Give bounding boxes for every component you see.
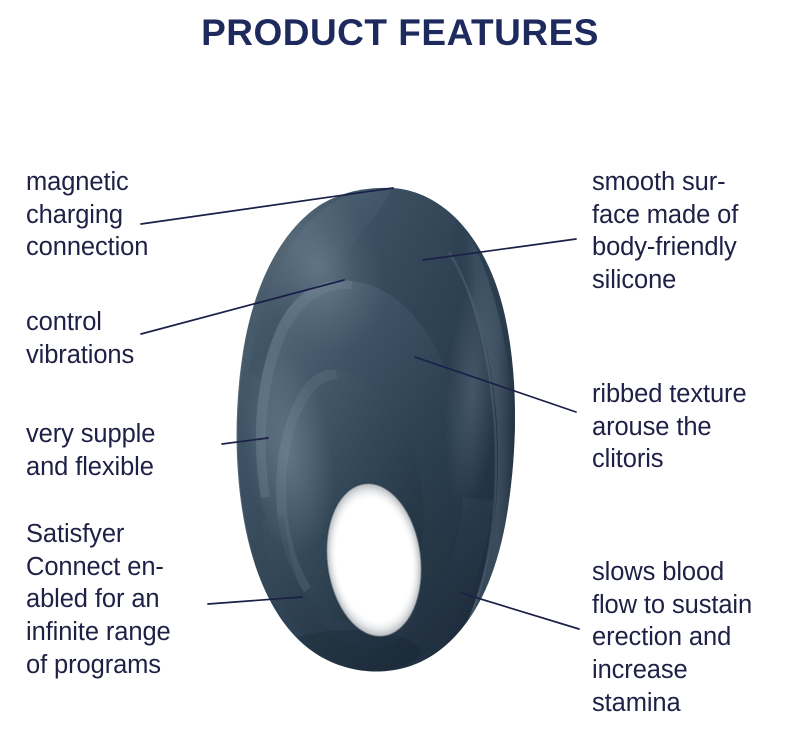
callout-line: erection and: [592, 621, 797, 654]
callout-line: increase: [592, 654, 797, 687]
callout-line: and flexible: [26, 451, 236, 484]
product-features-diagram: PRODUCT FEATURES: [0, 0, 800, 752]
callout-line: infinite range: [26, 616, 241, 649]
page-title: PRODUCT FEATURES: [0, 14, 800, 53]
ring-opening: [318, 478, 430, 642]
leader-line-smooth-surface: [423, 239, 576, 260]
callout-line: silicone: [592, 264, 792, 297]
callout-control-vibrations: control vibrations: [26, 306, 226, 371]
leader-line-slows-blood-flow: [461, 593, 579, 629]
callout-line: ribbed texture: [592, 378, 797, 411]
callout-line: stamina: [592, 687, 797, 720]
callout-line: very supple: [26, 418, 236, 451]
callout-smooth-surface: smooth sur- face made of body-friendly s…: [592, 166, 792, 297]
callout-line: Connect en-: [26, 551, 241, 584]
callout-line: abled for an: [26, 583, 241, 616]
product-body: [228, 165, 517, 674]
callout-line: face made of: [592, 199, 792, 232]
callout-line: of programs: [26, 649, 241, 682]
callout-line: flow to sustain: [592, 589, 797, 622]
callout-slows-blood-flow: slows blood flow to sustain erection and…: [592, 556, 797, 719]
leader-line-ribbed-texture: [415, 357, 576, 412]
callout-line: control: [26, 306, 226, 339]
callout-line: connection: [26, 231, 236, 264]
callout-magnetic-charging-connection: magnetic charging connection: [26, 166, 236, 264]
callout-line: smooth sur-: [592, 166, 792, 199]
callout-very-supple-and-flexible: very supple and flexible: [26, 418, 236, 483]
callout-line: arouse the: [592, 411, 797, 444]
callout-line: vibrations: [26, 339, 226, 372]
callout-ribbed-texture: ribbed texture arouse the clitoris: [592, 378, 797, 476]
callout-line: slows blood: [592, 556, 797, 589]
callout-line: Satisfyer: [26, 518, 241, 551]
callout-line: body-friendly: [592, 231, 792, 264]
callout-line: clitoris: [592, 443, 797, 476]
callout-satisfyer-connect: Satisfyer Connect en- abled for an infin…: [26, 518, 241, 681]
callout-line: charging: [26, 199, 236, 232]
callout-line: magnetic: [26, 166, 236, 199]
